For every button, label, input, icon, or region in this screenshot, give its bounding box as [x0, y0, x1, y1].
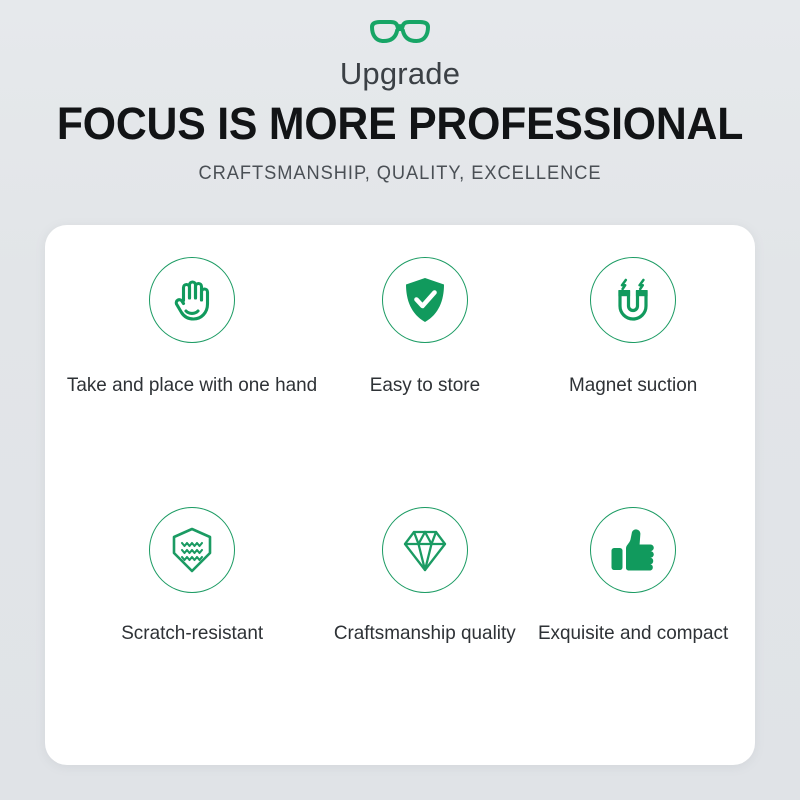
icon-circle — [149, 507, 235, 593]
feature-label: Craftsmanship quality — [334, 621, 516, 645]
feature-label: Scratch-resistant — [121, 621, 263, 645]
page-subtitle: CRAFTSMANSHIP, QUALITY, EXCELLENCE — [16, 160, 784, 188]
icon-circle — [382, 257, 468, 343]
icon-circle — [382, 507, 468, 593]
page-title: FOCUS IS MORE PROFESSIONAL — [20, 98, 780, 150]
icon-circle — [149, 257, 235, 343]
eyebrow-text: Upgrade — [0, 54, 800, 94]
icon-circle — [590, 257, 676, 343]
feature-label: Exquisite and compact — [538, 621, 728, 645]
eyeglasses-icon — [368, 18, 432, 48]
feature-item-easy-to-store: Easy to store — [321, 257, 529, 493]
diamond-icon — [399, 524, 451, 576]
feature-label: Take and place with one hand — [67, 373, 317, 397]
magnet-icon — [607, 274, 659, 326]
feature-item-scratch-resistant: Scratch-resistant — [63, 493, 321, 729]
feature-card: Take and place with one hand Easy to sto… — [45, 225, 755, 765]
feature-label: Magnet suction — [569, 373, 697, 397]
icon-circle — [590, 507, 676, 593]
feature-item-take-and-place: Take and place with one hand — [63, 257, 321, 493]
feature-item-exquisite-and-compact: Exquisite and compact — [529, 493, 737, 729]
feature-grid: Take and place with one hand Easy to sto… — [45, 225, 755, 765]
feature-item-craftsmanship-quality: Craftsmanship quality — [321, 493, 529, 729]
thumbs-up-icon — [607, 524, 659, 576]
hand-icon — [166, 274, 218, 326]
page-header: Upgrade FOCUS IS MORE PROFESSIONAL CRAFT… — [0, 0, 800, 188]
shield-waves-icon — [166, 524, 218, 576]
shield-check-icon — [399, 274, 451, 326]
feature-item-magnet-suction: Magnet suction — [529, 257, 737, 493]
feature-label: Easy to store — [370, 373, 480, 397]
